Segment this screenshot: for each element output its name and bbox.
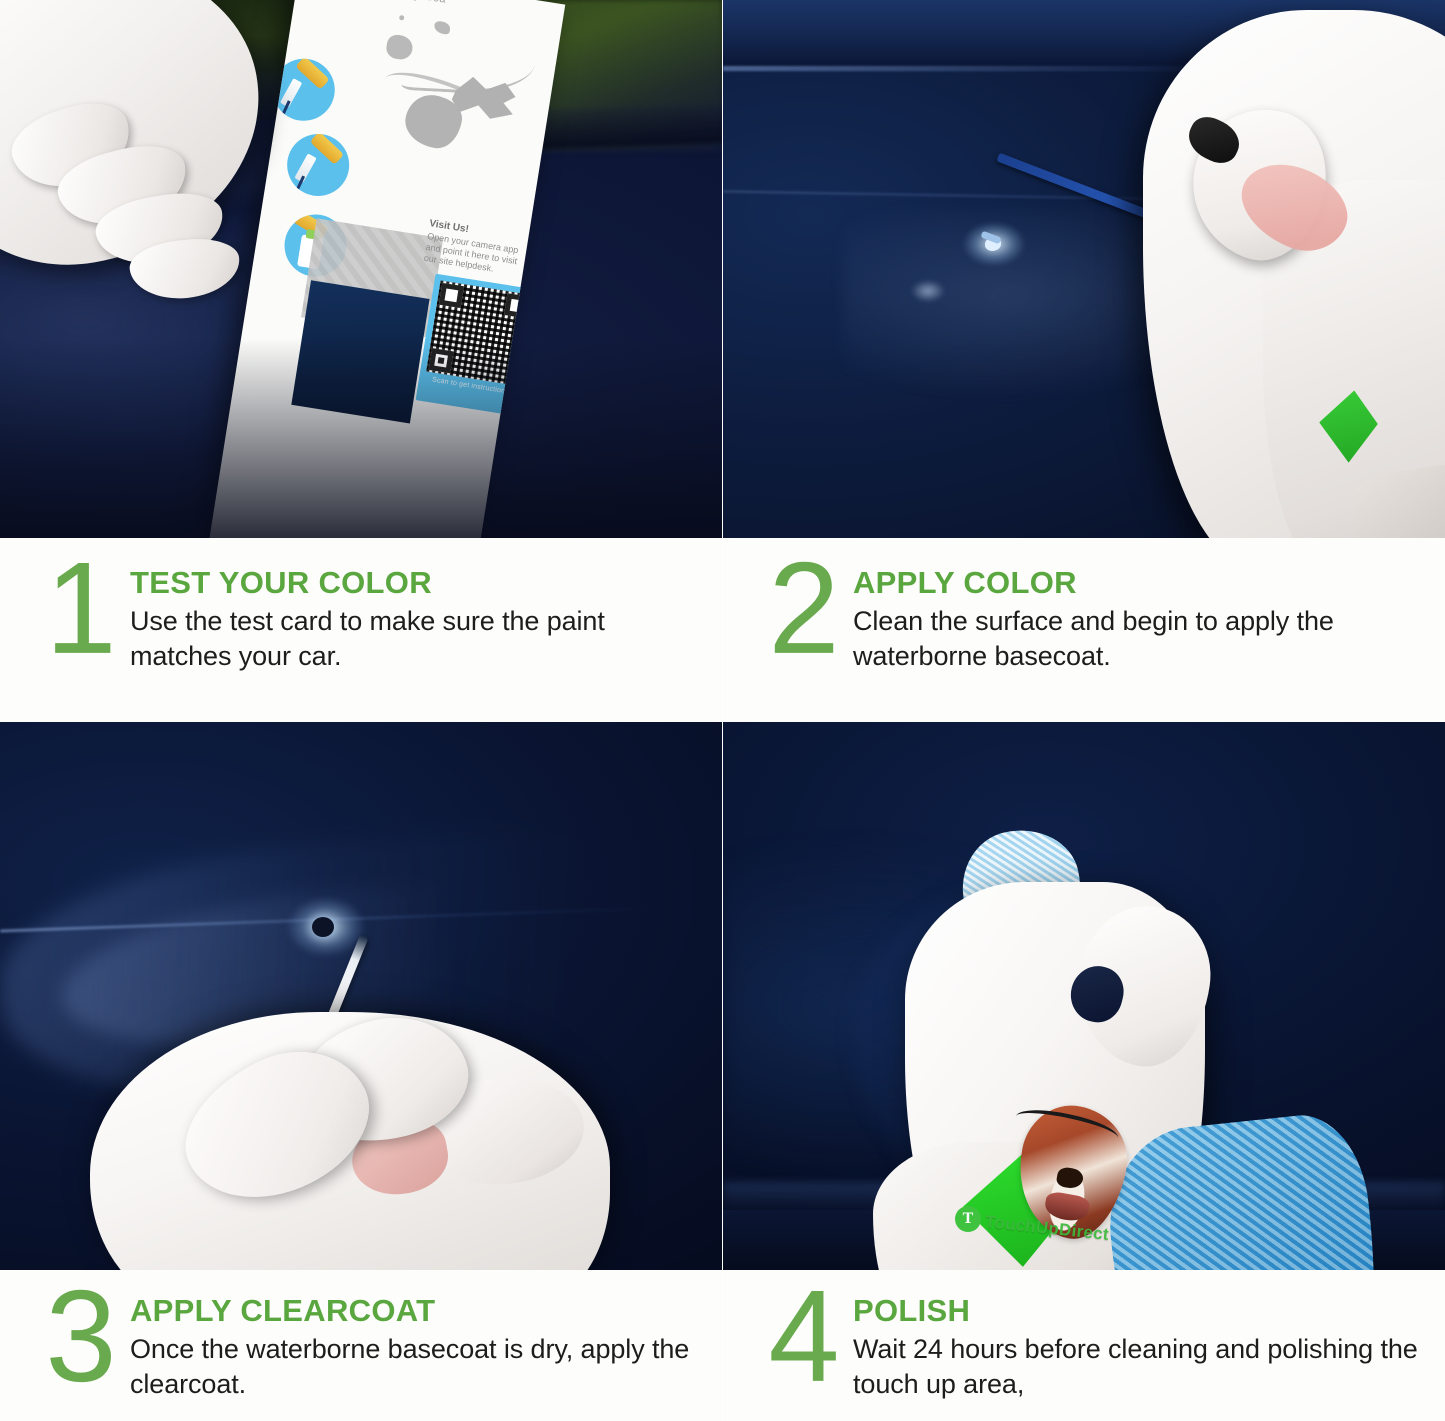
step-3-title: APPLY CLEARCOAT [130, 1294, 704, 1328]
photo-apply-clearcoat [0, 722, 722, 1270]
step-2-title: APPLY COLOR [853, 566, 1427, 600]
repair-spot [312, 917, 334, 937]
glove-brand-print: T TouchUpDirect [953, 1120, 1173, 1250]
step-1-description: Use the test card to make sure the paint… [130, 604, 704, 674]
step-4-caption: 4 POLISH Wait 24 hours before cleaning a… [723, 1270, 1445, 1421]
photo-polish: T TouchUpDirect [723, 722, 1445, 1270]
logo-mark-icon: T [955, 1206, 981, 1232]
step-2-image [723, 0, 1445, 538]
step-number-1: 1 [30, 553, 130, 665]
step-4-title: POLISH [853, 1294, 1427, 1328]
photo-apply-color [723, 0, 1445, 538]
bottom-image-row: T TouchUpDirect [0, 722, 1445, 1270]
step-1-title: TEST YOUR COLOR [130, 566, 704, 600]
card-step-icon-brush [283, 130, 354, 201]
top-caption-row: 1 TEST YOUR COLOR Use the test card to m… [0, 538, 1445, 722]
step-4-image: T TouchUpDirect [723, 722, 1445, 1270]
how-to-steps-infographic: Start and practice ay area [0, 0, 1445, 1421]
card-blob-shape [433, 21, 451, 35]
step-number-2: 2 [753, 553, 853, 665]
hood-shadow [0, 338, 722, 538]
step-2-description: Clean the surface and begin to apply the… [853, 604, 1427, 674]
paint-chip-secondary [911, 280, 945, 302]
step-1-image: Start and practice ay area [0, 0, 722, 538]
card-blob-shape [399, 15, 405, 21]
step-3-caption: 3 APPLY CLEARCOAT Once the waterborne ba… [0, 1270, 722, 1421]
step-4-description: Wait 24 hours before cleaning and polish… [853, 1332, 1427, 1402]
bottom-caption-row: 3 APPLY CLEARCOAT Once the waterborne ba… [0, 1270, 1445, 1421]
step-3-description: Once the waterborne basecoat is dry, app… [130, 1332, 704, 1402]
top-image-row: Start and practice ay area [0, 0, 1445, 538]
step-number-3: 3 [30, 1281, 130, 1393]
step-2-caption: 2 APPLY COLOR Clean the surface and begi… [723, 538, 1445, 722]
test-card-header-text: Start and practice ay area [315, 0, 545, 21]
step-number-4: 4 [753, 1281, 853, 1393]
step-1-caption: 1 TEST YOUR COLOR Use the test card to m… [0, 538, 722, 722]
photo-test-card-on-hood: Start and practice ay area [0, 0, 722, 538]
step-3-image [0, 722, 722, 1270]
